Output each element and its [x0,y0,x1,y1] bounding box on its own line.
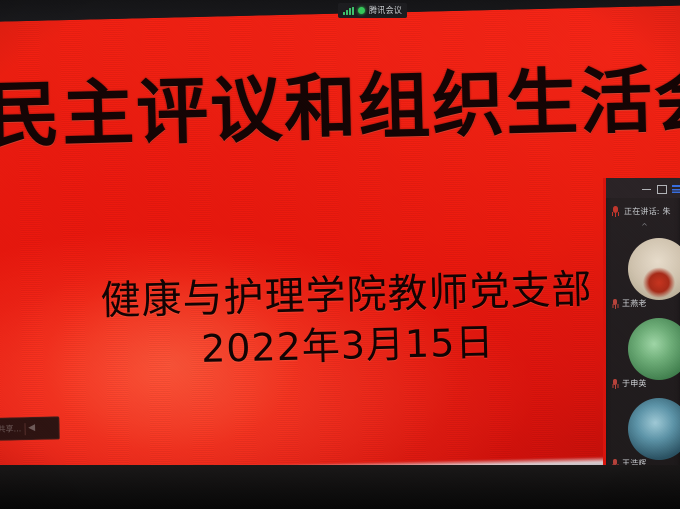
speaking-status-label: 正在讲话: 朱 [624,206,671,217]
slide-date: 2022年3月15日 [0,317,680,375]
participant-sidebar[interactable]: 正在讲话: 朱 ^ 王燕老 于申英 王浩辉 [603,178,680,488]
signal-bars-icon [343,7,354,15]
participant-name-row: 王燕老 [611,298,647,309]
microphone-muted-icon [611,299,619,309]
toolbar-divider [24,423,25,435]
slide-text-block: 民主评议和组织生活会 健康与护理学院教师党支部 2022年3月15日 [0,5,680,484]
screenshot-root: 民主评议和组织生活会 健康与护理学院教师党支部 2022年3月15日 共享...… [0,0,680,509]
meeting-status-pill[interactable]: 腾讯会议 [338,3,407,18]
participant-tile[interactable]: 于申英 [606,314,680,394]
maximize-icon[interactable] [657,184,666,193]
participant-name: 王燕老 [622,298,647,309]
monitor-bottom-bezel [0,465,680,509]
participant-name-row: 于申英 [611,378,647,389]
screen-share-mini-toolbar[interactable]: 共享... ◀ [0,416,60,441]
sidebar-titlebar [606,178,680,198]
speaking-status-row: 正在讲话: 朱 [606,200,680,222]
participant-name: 于申英 [622,378,647,389]
collapse-chevron-icon[interactable]: ^ [606,222,680,231]
meeting-app-name: 腾讯会议 [369,5,402,17]
avatar [628,238,680,300]
stop-share-icon[interactable]: ◀ [28,424,35,433]
avatar [628,398,680,460]
microphone-muted-icon [611,379,619,389]
layout-view-icon[interactable] [672,184,680,193]
minimize-icon[interactable] [642,184,651,193]
slide-title: 民主评议和组织生活会 [0,63,680,152]
slide-subtitle: 健康与护理学院教师党支部 [0,265,680,326]
green-status-dot-icon [358,7,365,14]
participant-tile[interactable]: 王燕老 [606,234,680,314]
participant-tile[interactable]: 王浩辉 [606,394,680,474]
avatar [628,318,680,380]
screen-share-label: 共享... [0,423,21,435]
projected-screen: 民主评议和组织生活会 健康与护理学院教师党支部 2022年3月15日 共享...… [0,5,680,484]
microphone-active-icon [611,206,620,217]
